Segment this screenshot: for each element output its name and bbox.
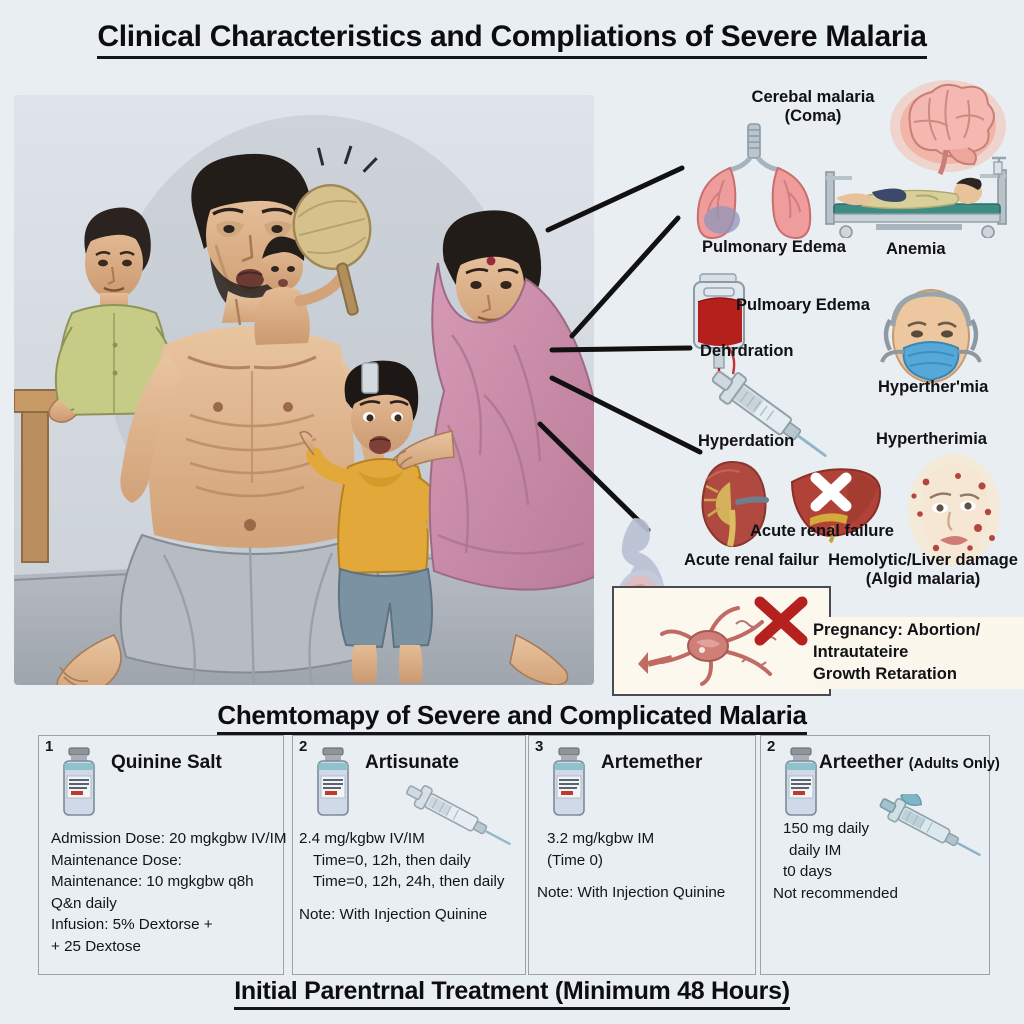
footer-title: Initial Parentrnal Treatment (Minimum 48… bbox=[0, 977, 1024, 1006]
footer-title-text: Initial Parentrnal Treatment (Minimum 48… bbox=[234, 977, 789, 1010]
label-hyperdation: Hyperdation bbox=[698, 432, 794, 451]
oxygen-mask-icon bbox=[872, 280, 990, 392]
drug-card-number: 3 bbox=[535, 738, 543, 755]
hospital-bed-icon bbox=[820, 152, 1020, 238]
drug-card-artisunate[interactable]: 2 Artisunate bbox=[292, 735, 526, 975]
drug-card-number: 2 bbox=[767, 738, 775, 755]
label-pulmoary-edema: Pulmoary Edema bbox=[736, 296, 870, 315]
drug-card-name: Artemether bbox=[601, 752, 702, 774]
infographic-root: Clinical Characteristics and Compliation… bbox=[0, 0, 1024, 1024]
drug-card-number: 1 bbox=[45, 738, 53, 755]
drug-card-name-qualifier: (Adults Only) bbox=[909, 756, 1000, 772]
lungs-icon bbox=[690, 122, 818, 240]
body-spacer bbox=[547, 871, 725, 882]
label-hyperthermia-2: Hypertherimia bbox=[876, 430, 987, 449]
label-acute-renal-failure-2: Acute renal failur bbox=[684, 551, 819, 570]
drug-card-name: Artisunate bbox=[365, 752, 459, 774]
drug-card-number: 2 bbox=[299, 738, 307, 755]
page-title-text: Clinical Characteristics and Compliation… bbox=[97, 20, 926, 59]
label-pulmonary-edema: Pulmonary Edema bbox=[702, 238, 846, 257]
vial-icon bbox=[57, 746, 101, 825]
drug-card-name: Arteether (Adults Only) bbox=[819, 752, 1000, 774]
label-hemolytic-liver-damage: Hemolytic/Liver damage (Algid malaria) bbox=[818, 551, 1024, 589]
drug-card-body: Admission Dose: 20 mgkgbw IV/IM Maintena… bbox=[51, 828, 287, 957]
label-acute-renal-failure-1: Acute renal failure bbox=[750, 522, 894, 541]
page-title: Clinical Characteristics and Compliation… bbox=[0, 20, 1024, 54]
label-dehydration: Dehrdration bbox=[700, 342, 794, 361]
section-title-text: Chemtomapy of Severe and Complicated Mal… bbox=[217, 700, 806, 735]
drug-card-quinine-salt[interactable]: 1 Quinine Salt Admission Dose: 20 mgkgbw… bbox=[38, 735, 284, 975]
vial-icon bbox=[779, 746, 823, 825]
drug-card-body: 150 mg daily daily IM t0 days Not recomm… bbox=[783, 818, 898, 904]
patient-family-illustration bbox=[14, 95, 594, 685]
drug-card-artemether[interactable]: 3 Artemether 3.2 mg/kgbw IM (Time 0) Not… bbox=[528, 735, 756, 975]
pregnancy-complication-box bbox=[612, 586, 831, 696]
drug-card-arteether[interactable]: 2 Arteether (Adults Only) bbox=[760, 735, 990, 975]
vial-icon bbox=[311, 746, 355, 825]
label-cerebral-malaria: Cerebal malaria (Coma) bbox=[718, 88, 908, 126]
body-spacer bbox=[299, 893, 505, 904]
section-title: Chemtomapy of Severe and Complicated Mal… bbox=[0, 700, 1024, 731]
label-anemia: Anemia bbox=[886, 240, 946, 259]
label-hyperthermia-1: Hyperther'mia bbox=[878, 378, 988, 397]
drug-card-body: 2.4 mg/kgbw IV/IM Time=0, 12h, then dail… bbox=[299, 828, 505, 925]
pregnancy-complication-text: Pregnancy: Abortion/ Intrautateire Growt… bbox=[810, 617, 1024, 689]
drug-card-body: 3.2 mg/kgbw IM (Time 0) Note: With Injec… bbox=[547, 828, 725, 904]
vial-icon bbox=[547, 746, 591, 825]
drug-card-name: Quinine Salt bbox=[111, 752, 222, 774]
